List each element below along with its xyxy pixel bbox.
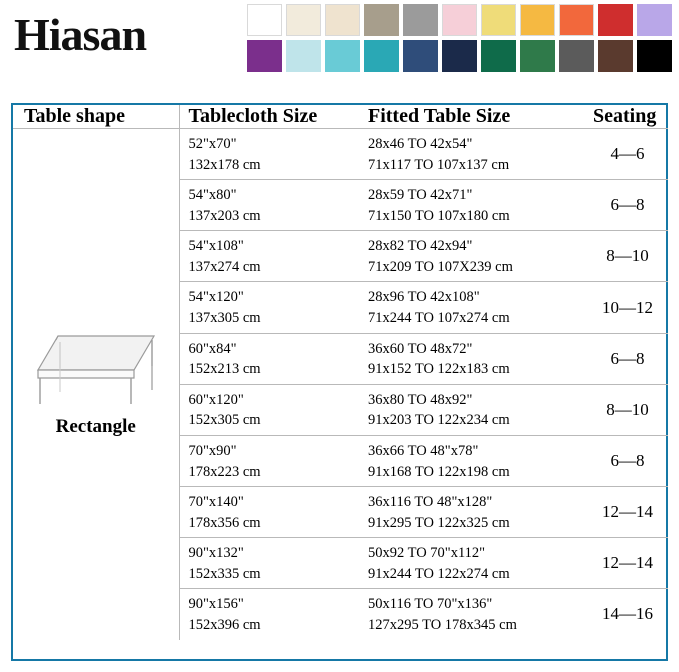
color-swatch[interactable] xyxy=(637,40,672,72)
cell-fitted-table-size: 28x82 TO 42x94"71x209 TO 107X239 cm xyxy=(359,231,587,282)
tablecloth-size-in: 52"x70" xyxy=(189,134,360,155)
tablecloth-size-cm: 137x203 cm xyxy=(189,206,360,227)
color-swatch[interactable] xyxy=(364,4,399,36)
header-tablecloth-size: Tablecloth Size xyxy=(179,105,359,129)
cell-seating: 6—8 xyxy=(587,333,668,384)
cell-fitted-table-size: 28x59 TO 42x71"71x150 TO 107x180 cm xyxy=(359,180,587,231)
fitted-size-cm: 71x117 TO 107x137 cm xyxy=(368,155,587,176)
shape-label: Rectangle xyxy=(13,410,179,438)
color-swatch[interactable] xyxy=(559,4,594,36)
table-shape-cell: Rectangle xyxy=(13,129,179,640)
color-swatch[interactable] xyxy=(403,4,438,36)
fitted-size-cm: 127x295 TO 178x345 cm xyxy=(368,615,587,636)
swatch-row-1 xyxy=(247,4,672,36)
cell-fitted-table-size: 36x60 TO 48x72"91x152 TO 122x183 cm xyxy=(359,333,587,384)
cell-tablecloth-size: 54"x120"137x305 cm xyxy=(179,282,359,333)
cell-tablecloth-size: 60"x120"152x305 cm xyxy=(179,384,359,435)
cell-fitted-table-size: 50x116 TO 70"x136"127x295 TO 178x345 cm xyxy=(359,589,587,640)
tablecloth-size-in: 70"x140" xyxy=(189,492,360,513)
color-swatch[interactable] xyxy=(481,40,516,72)
color-swatch[interactable] xyxy=(286,40,321,72)
fitted-size-cm: 91x244 TO 122x274 cm xyxy=(368,564,587,585)
fitted-size-cm: 91x203 TO 122x234 cm xyxy=(368,410,587,431)
header-table-shape: Table shape xyxy=(13,105,179,129)
color-swatch[interactable] xyxy=(442,4,477,36)
cell-tablecloth-size: 54"x108"137x274 cm xyxy=(179,231,359,282)
brand-logo: Hiasan xyxy=(14,8,146,61)
rectangle-table-illustration xyxy=(30,330,162,410)
color-swatch[interactable] xyxy=(598,40,633,72)
color-swatch[interactable] xyxy=(520,40,555,72)
tablecloth-size-cm: 178x356 cm xyxy=(189,513,360,534)
tablecloth-size-cm: 152x335 cm xyxy=(189,564,360,585)
tablecloth-size-in: 90"x132" xyxy=(189,543,360,564)
fitted-size-in: 50x116 TO 70"x136" xyxy=(368,594,587,615)
cell-seating: 6—8 xyxy=(587,180,668,231)
fitted-size-cm: 71x150 TO 107x180 cm xyxy=(368,206,587,227)
size-chart-table: Table shape Tablecloth Size Fitted Table… xyxy=(13,105,668,640)
fitted-size-in: 36x60 TO 48x72" xyxy=(368,339,587,360)
tablecloth-size-cm: 152x396 cm xyxy=(189,615,360,636)
fitted-size-in: 28x96 TO 42x108" xyxy=(368,287,587,308)
table-row: Rectangle52"x70"132x178 cm28x46 TO 42x54… xyxy=(13,129,668,180)
fitted-size-in: 50x92 TO 70"x112" xyxy=(368,543,587,564)
page-header: Hiasan xyxy=(0,0,679,92)
cell-seating: 14—16 xyxy=(587,589,668,640)
color-swatch[interactable] xyxy=(481,4,516,36)
color-swatch[interactable] xyxy=(442,40,477,72)
cell-tablecloth-size: 52"x70"132x178 cm xyxy=(179,129,359,180)
cell-fitted-table-size: 50x92 TO 70"x112"91x244 TO 122x274 cm xyxy=(359,538,587,589)
color-swatch[interactable] xyxy=(559,40,594,72)
cell-seating: 8—10 xyxy=(587,231,668,282)
cell-fitted-table-size: 36x66 TO 48"x78"91x168 TO 122x198 cm xyxy=(359,435,587,486)
fitted-size-in: 28x82 TO 42x94" xyxy=(368,236,587,257)
cell-tablecloth-size: 54"x80"137x203 cm xyxy=(179,180,359,231)
tablecloth-size-in: 60"x120" xyxy=(189,390,360,411)
fitted-size-cm: 91x295 TO 122x325 cm xyxy=(368,513,587,534)
cell-seating: 10—12 xyxy=(587,282,668,333)
cell-tablecloth-size: 60"x84"152x213 cm xyxy=(179,333,359,384)
cell-seating: 6—8 xyxy=(587,435,668,486)
color-swatch[interactable] xyxy=(364,40,399,72)
fitted-size-in: 28x59 TO 42x71" xyxy=(368,185,587,206)
swatch-row-2 xyxy=(247,40,672,72)
color-swatch[interactable] xyxy=(325,4,360,36)
fitted-size-cm: 71x244 TO 107x274 cm xyxy=(368,308,587,329)
tablecloth-size-in: 70"x90" xyxy=(189,441,360,462)
color-swatch[interactable] xyxy=(403,40,438,72)
cell-fitted-table-size: 36x80 TO 48x92"91x203 TO 122x234 cm xyxy=(359,384,587,435)
fitted-size-in: 36x66 TO 48"x78" xyxy=(368,441,587,462)
tablecloth-size-cm: 178x223 cm xyxy=(189,462,360,483)
cell-fitted-table-size: 28x96 TO 42x108"71x244 TO 107x274 cm xyxy=(359,282,587,333)
color-swatch[interactable] xyxy=(598,4,633,36)
header-fitted-table-size: Fitted Table Size xyxy=(359,105,587,129)
tablecloth-size-in: 54"x80" xyxy=(189,185,360,206)
fitted-size-in: 36x116 TO 48"x128" xyxy=(368,492,587,513)
size-chart-body: Table shape Tablecloth Size Fitted Table… xyxy=(13,105,668,640)
tablecloth-size-in: 54"x120" xyxy=(189,287,360,308)
tablecloth-size-in: 54"x108" xyxy=(189,236,360,257)
color-swatch[interactable] xyxy=(637,4,672,36)
header-seating: Seating xyxy=(587,105,668,129)
cell-tablecloth-size: 70"x90"178x223 cm xyxy=(179,435,359,486)
fitted-size-cm: 91x168 TO 122x198 cm xyxy=(368,462,587,483)
tablecloth-size-in: 60"x84" xyxy=(189,339,360,360)
fitted-size-cm: 91x152 TO 122x183 cm xyxy=(368,359,587,380)
size-chart-card: Table shape Tablecloth Size Fitted Table… xyxy=(11,103,668,661)
tablecloth-size-cm: 137x274 cm xyxy=(189,257,360,278)
cell-tablecloth-size: 90"x156"152x396 cm xyxy=(179,589,359,640)
tablecloth-size-cm: 152x213 cm xyxy=(189,359,360,380)
color-swatch[interactable] xyxy=(325,40,360,72)
color-swatch[interactable] xyxy=(247,4,282,36)
tablecloth-size-cm: 137x305 cm xyxy=(189,308,360,329)
cell-fitted-table-size: 36x116 TO 48"x128"91x295 TO 122x325 cm xyxy=(359,487,587,538)
fitted-size-in: 28x46 TO 42x54" xyxy=(368,134,587,155)
color-swatch[interactable] xyxy=(286,4,321,36)
cell-tablecloth-size: 70"x140"178x356 cm xyxy=(179,487,359,538)
cell-seating: 12—14 xyxy=(587,487,668,538)
cell-seating: 12—14 xyxy=(587,538,668,589)
tablecloth-size-in: 90"x156" xyxy=(189,594,360,615)
fitted-size-cm: 71x209 TO 107X239 cm xyxy=(368,257,587,278)
cell-tablecloth-size: 90"x132"152x335 cm xyxy=(179,538,359,589)
color-swatch[interactable] xyxy=(520,4,555,36)
tablecloth-size-cm: 152x305 cm xyxy=(189,410,360,431)
color-swatch[interactable] xyxy=(247,40,282,72)
table-header-row: Table shape Tablecloth Size Fitted Table… xyxy=(13,105,668,129)
fitted-size-in: 36x80 TO 48x92" xyxy=(368,390,587,411)
cell-fitted-table-size: 28x46 TO 42x54"71x117 TO 107x137 cm xyxy=(359,129,587,180)
cell-seating: 4—6 xyxy=(587,129,668,180)
color-swatch-palette xyxy=(247,4,672,76)
cell-seating: 8—10 xyxy=(587,384,668,435)
tablecloth-size-cm: 132x178 cm xyxy=(189,155,360,176)
